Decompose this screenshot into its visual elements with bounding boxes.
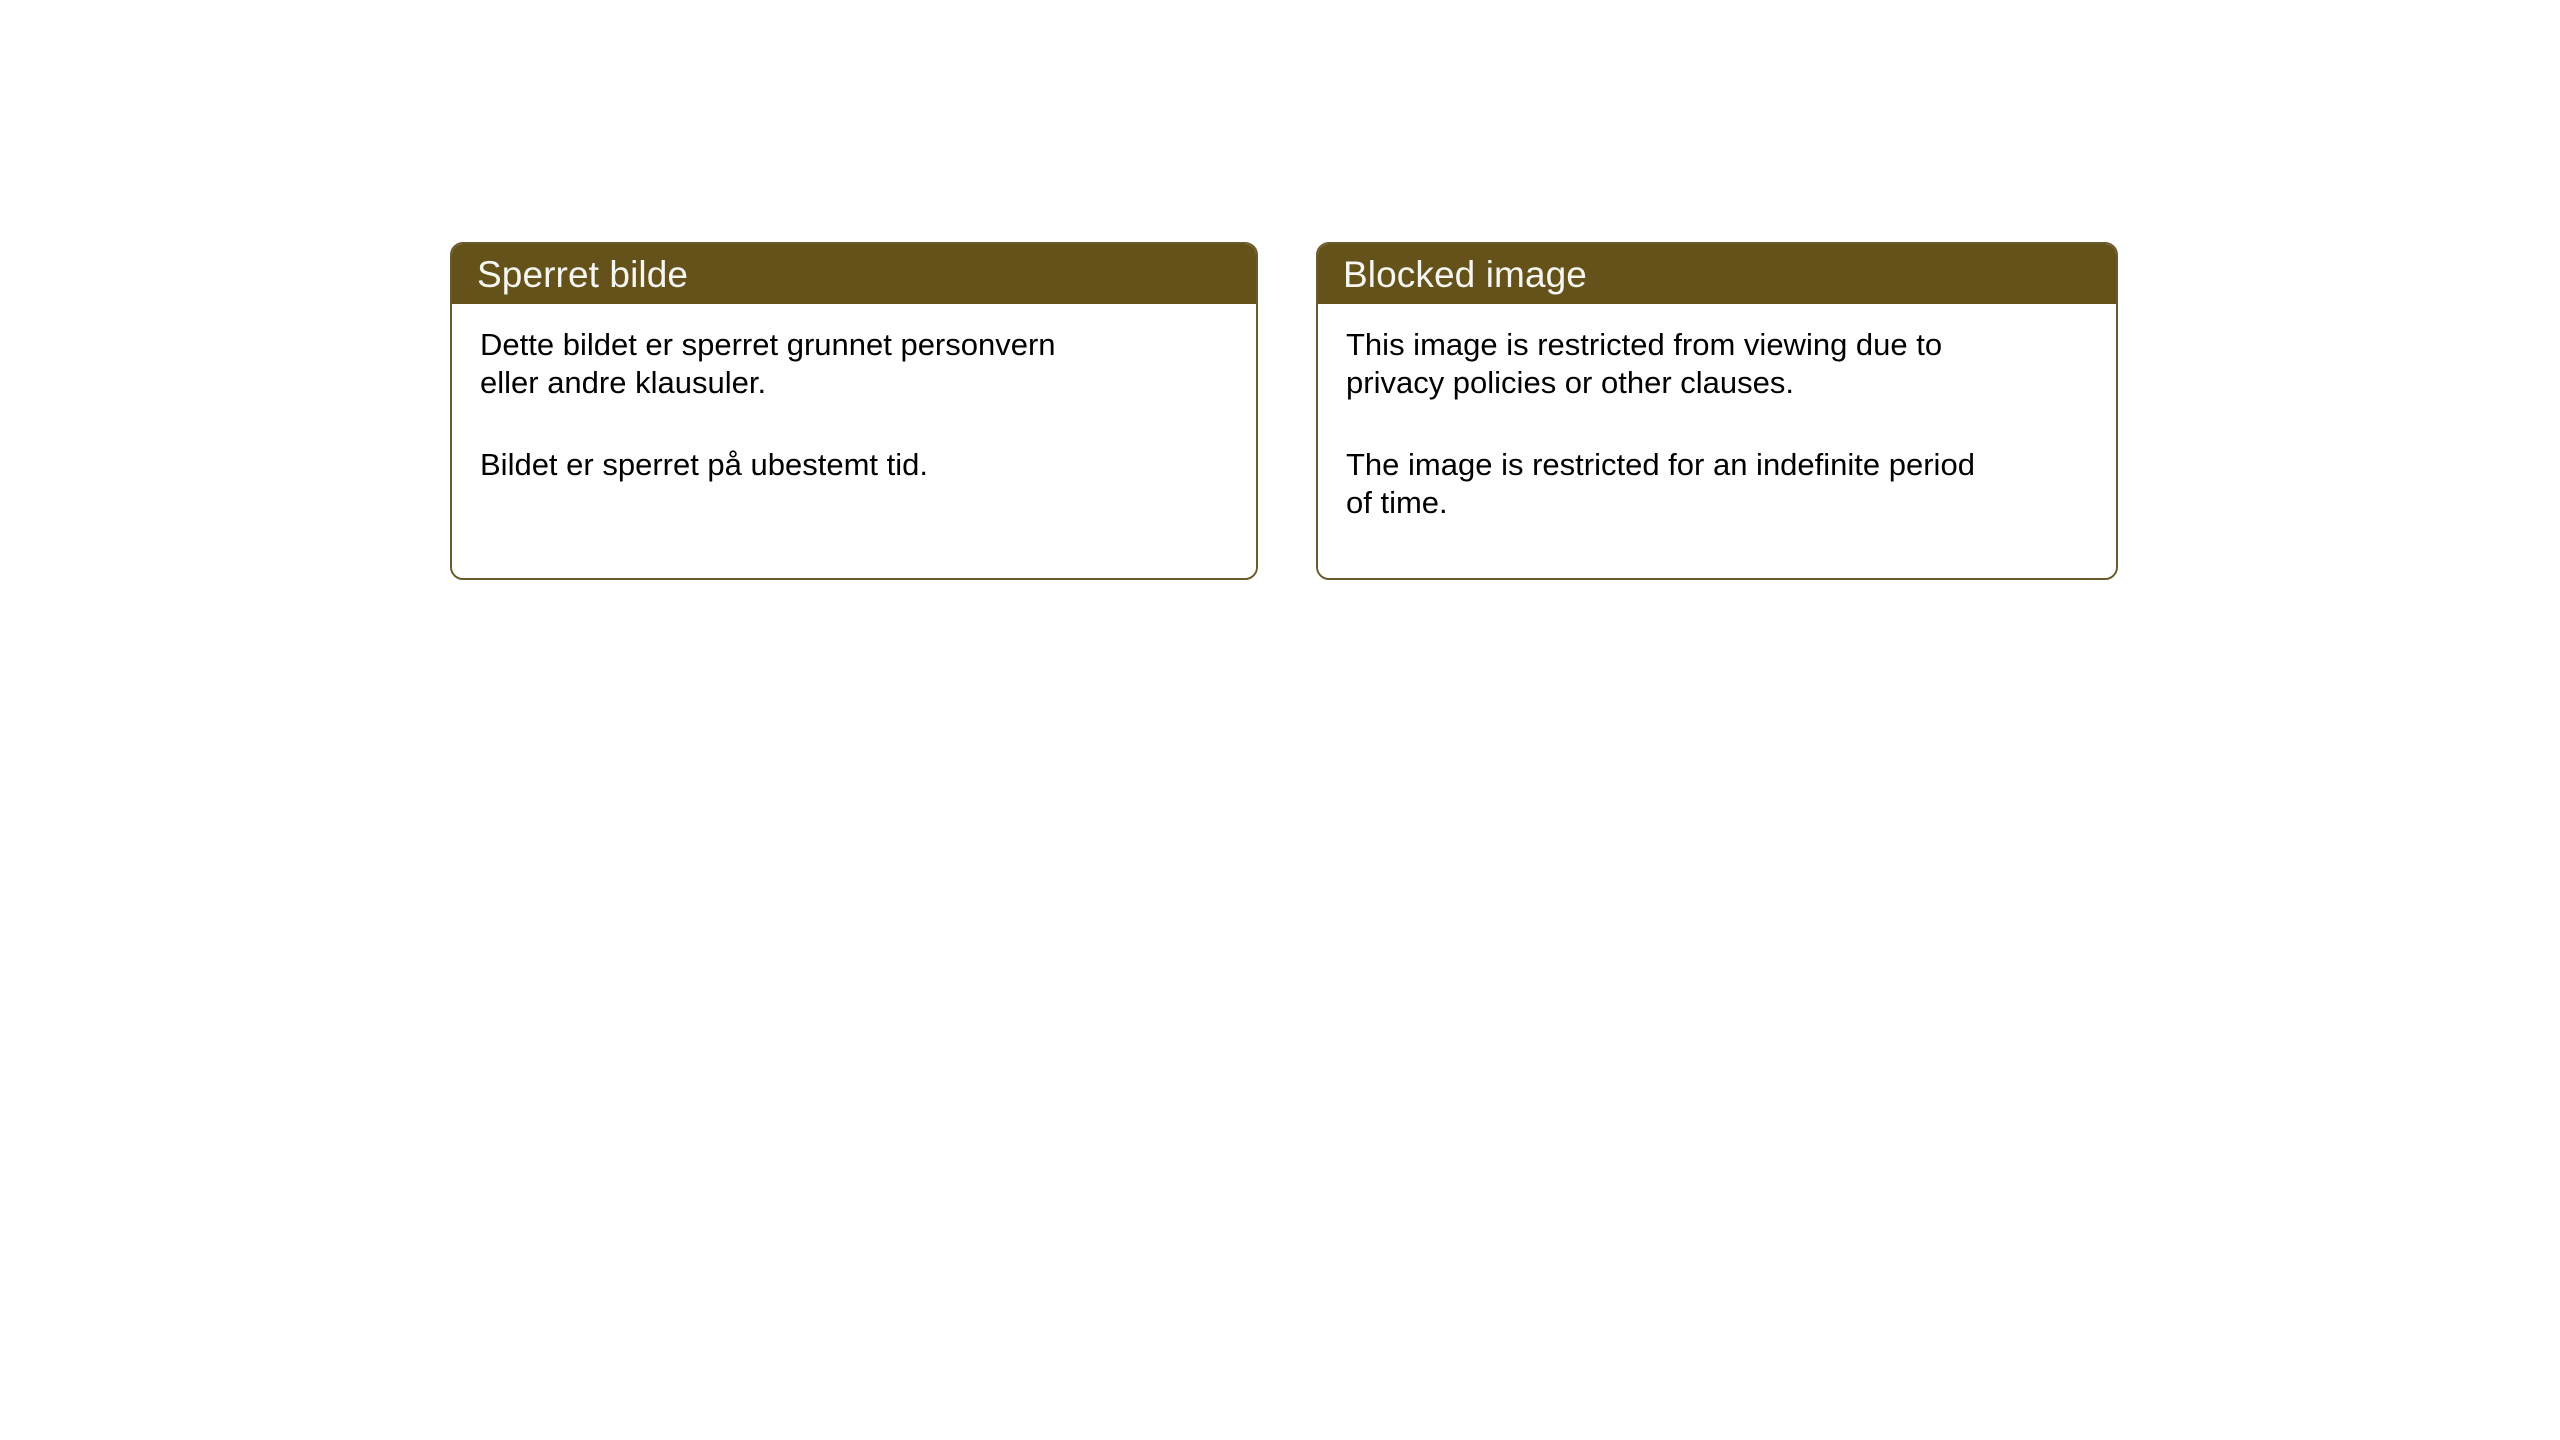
blocked-image-card-english: Blocked image This image is restricted f… — [1316, 242, 2118, 580]
card-paragraph-duration-norwegian: Bildet er sperret på ubestemt tid. — [480, 446, 1230, 484]
card-paragraph-reason-norwegian: Dette bildet er sperret grunnet personve… — [480, 326, 1230, 403]
card-paragraph-reason-english: This image is restricted from viewing du… — [1346, 326, 2090, 403]
card-body-english: This image is restricted from viewing du… — [1318, 304, 2116, 578]
card-title-norwegian: Sperret bilde — [477, 256, 688, 293]
card-title-english: Blocked image — [1343, 256, 1587, 293]
card-body-norwegian: Dette bildet er sperret grunnet personve… — [452, 304, 1256, 578]
card-header-english: Blocked image — [1318, 244, 2116, 304]
card-header-norwegian: Sperret bilde — [452, 244, 1256, 304]
page-canvas: Sperret bilde Dette bildet er sperret gr… — [0, 0, 2560, 1440]
blocked-image-card-norwegian: Sperret bilde Dette bildet er sperret gr… — [450, 242, 1258, 580]
blocked-image-notice-group: Sperret bilde Dette bildet er sperret gr… — [450, 242, 2118, 580]
card-paragraph-duration-english: The image is restricted for an indefinit… — [1346, 446, 2090, 523]
